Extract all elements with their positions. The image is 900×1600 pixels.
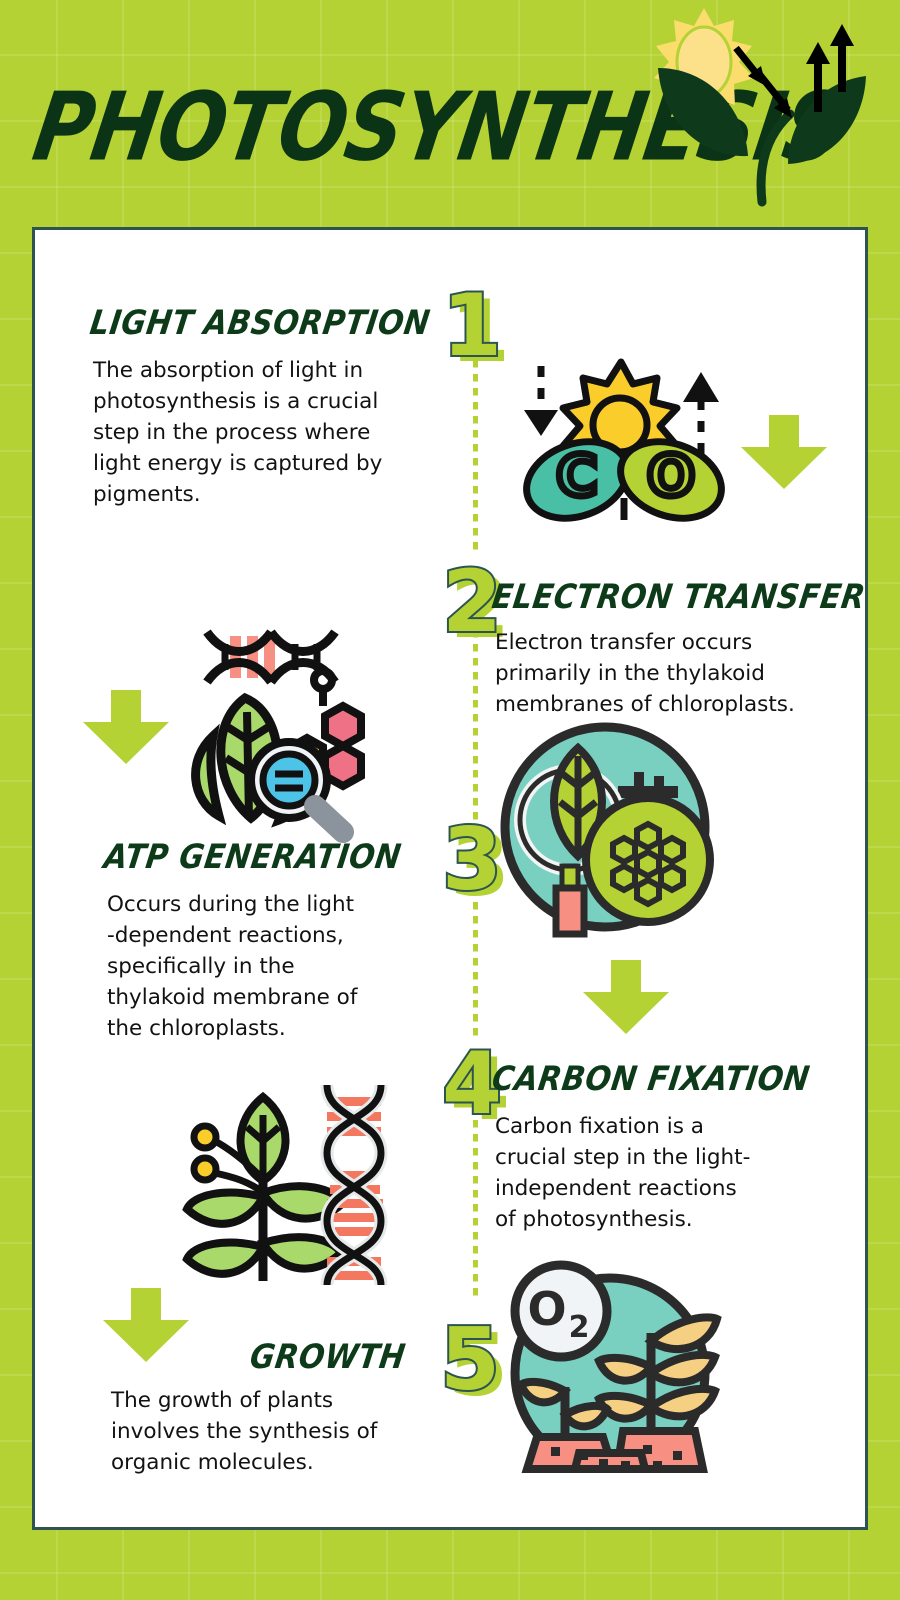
flow-arrow-down-2: [83, 690, 169, 764]
illustration-co2-sun-leaves: C O: [505, 358, 745, 518]
step-body-2: Electron transfer occurs primarily in th…: [495, 628, 870, 721]
illustration-dna-leaf-magnifier-molecule: [175, 620, 415, 840]
dotted-connector-line: [473, 630, 478, 820]
step-title-5: GROWTH: [247, 1338, 407, 1377]
stem: [761, 114, 790, 202]
flow-arrow-down-1: [741, 415, 827, 489]
step-body-4: Carbon fixation is a crucial step in the…: [495, 1112, 870, 1236]
step-body-5: The growth of plants involves the synthe…: [111, 1386, 481, 1479]
step-title-4: CARBON FIXATION: [489, 1060, 812, 1099]
step-body-1: The absorption of light in photosynthesi…: [93, 356, 453, 511]
illustration-plant-dna-helix: [175, 1085, 395, 1285]
header-illustration: [640, 6, 885, 206]
leaf-icon: [788, 76, 866, 164]
step-body-3: Occurs during the light -dependent react…: [107, 890, 467, 1045]
dotted-connector-line: [473, 360, 478, 550]
o2-subscript: 2: [569, 1310, 590, 1345]
o2-label: O: [527, 1282, 566, 1336]
flow-arrow-down-3: [583, 960, 669, 1034]
svg-text:C: C: [556, 444, 597, 509]
step-title-2: ELECTRON TRANSFER: [489, 578, 867, 617]
step-title-1: LIGHT ABSORPTION: [87, 304, 432, 343]
content-card: LIGHT ABSORPTION 1 1 The absorption of l…: [32, 227, 868, 1530]
arrow-down-icon: [524, 366, 558, 436]
dotted-connector-line: [473, 1120, 478, 1300]
illustration-oxygen-sprouts-soil: O 2: [503, 1255, 718, 1470]
header: PHOTOSYNTHESIS: [0, 0, 900, 227]
dotted-connector-line: [473, 902, 478, 1042]
svg-text:O: O: [647, 444, 695, 509]
step-title-3: ATP GENERATION: [101, 838, 403, 877]
flow-arrow-down-4: [103, 1288, 189, 1362]
illustration-leaf-magnifier-honeycomb: [498, 720, 713, 935]
arrow-down-icon: [736, 48, 792, 118]
